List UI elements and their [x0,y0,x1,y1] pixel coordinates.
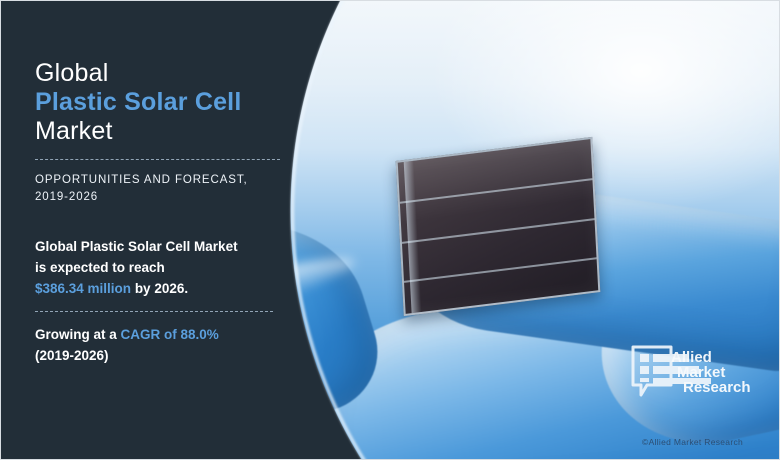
subtitle-block: OPPORTUNITIES AND FORECAST, 2019-2026 [35,172,297,206]
cagr-line-1: Growing at a CAGR of 88.0% [35,324,297,345]
logo-bar-3 [640,378,649,382]
market-value-line-2: is expected to reach [35,257,297,278]
cagr-statement: Growing at a CAGR of 88.0% (2019-2026) [35,324,297,366]
headline-block: Global Plastic Solar Cell Market OPPORTU… [35,59,297,366]
logo-mark-icon: Allied Market Research [631,345,759,397]
divider-bottom [35,311,273,312]
title-line-3: Market [35,117,297,146]
logo-bar-1 [640,354,649,362]
copyright-notice: ©Allied Market Research [642,437,743,447]
allied-market-research-logo: Allied Market Research [631,345,759,397]
market-value-suffix: by 2026. [131,281,188,296]
cagr-prefix: Growing at a [35,327,121,342]
logo-text-research: Research [683,379,751,396]
market-report-banner: Global Plastic Solar Cell Market OPPORTU… [0,0,780,460]
logo-bar-2 [640,366,649,374]
subtitle-line-1: OPPORTUNITIES AND FORECAST, [35,172,297,189]
divider-top [35,159,280,160]
market-value-figure: $386.34 million [35,281,131,296]
cagr-value: CAGR of 88.0% [121,327,219,342]
title-line-1: Global [35,59,297,88]
market-value-statement: Global Plastic Solar Cell Market is expe… [35,236,297,299]
cagr-period: (2019-2026) [35,345,297,366]
subtitle-line-2: 2019-2026 [35,189,297,206]
market-value-line-1: Global Plastic Solar Cell Market [35,236,297,257]
market-value-line-3: $386.34 million by 2026. [35,278,297,299]
title-line-2: Plastic Solar Cell [35,88,297,117]
